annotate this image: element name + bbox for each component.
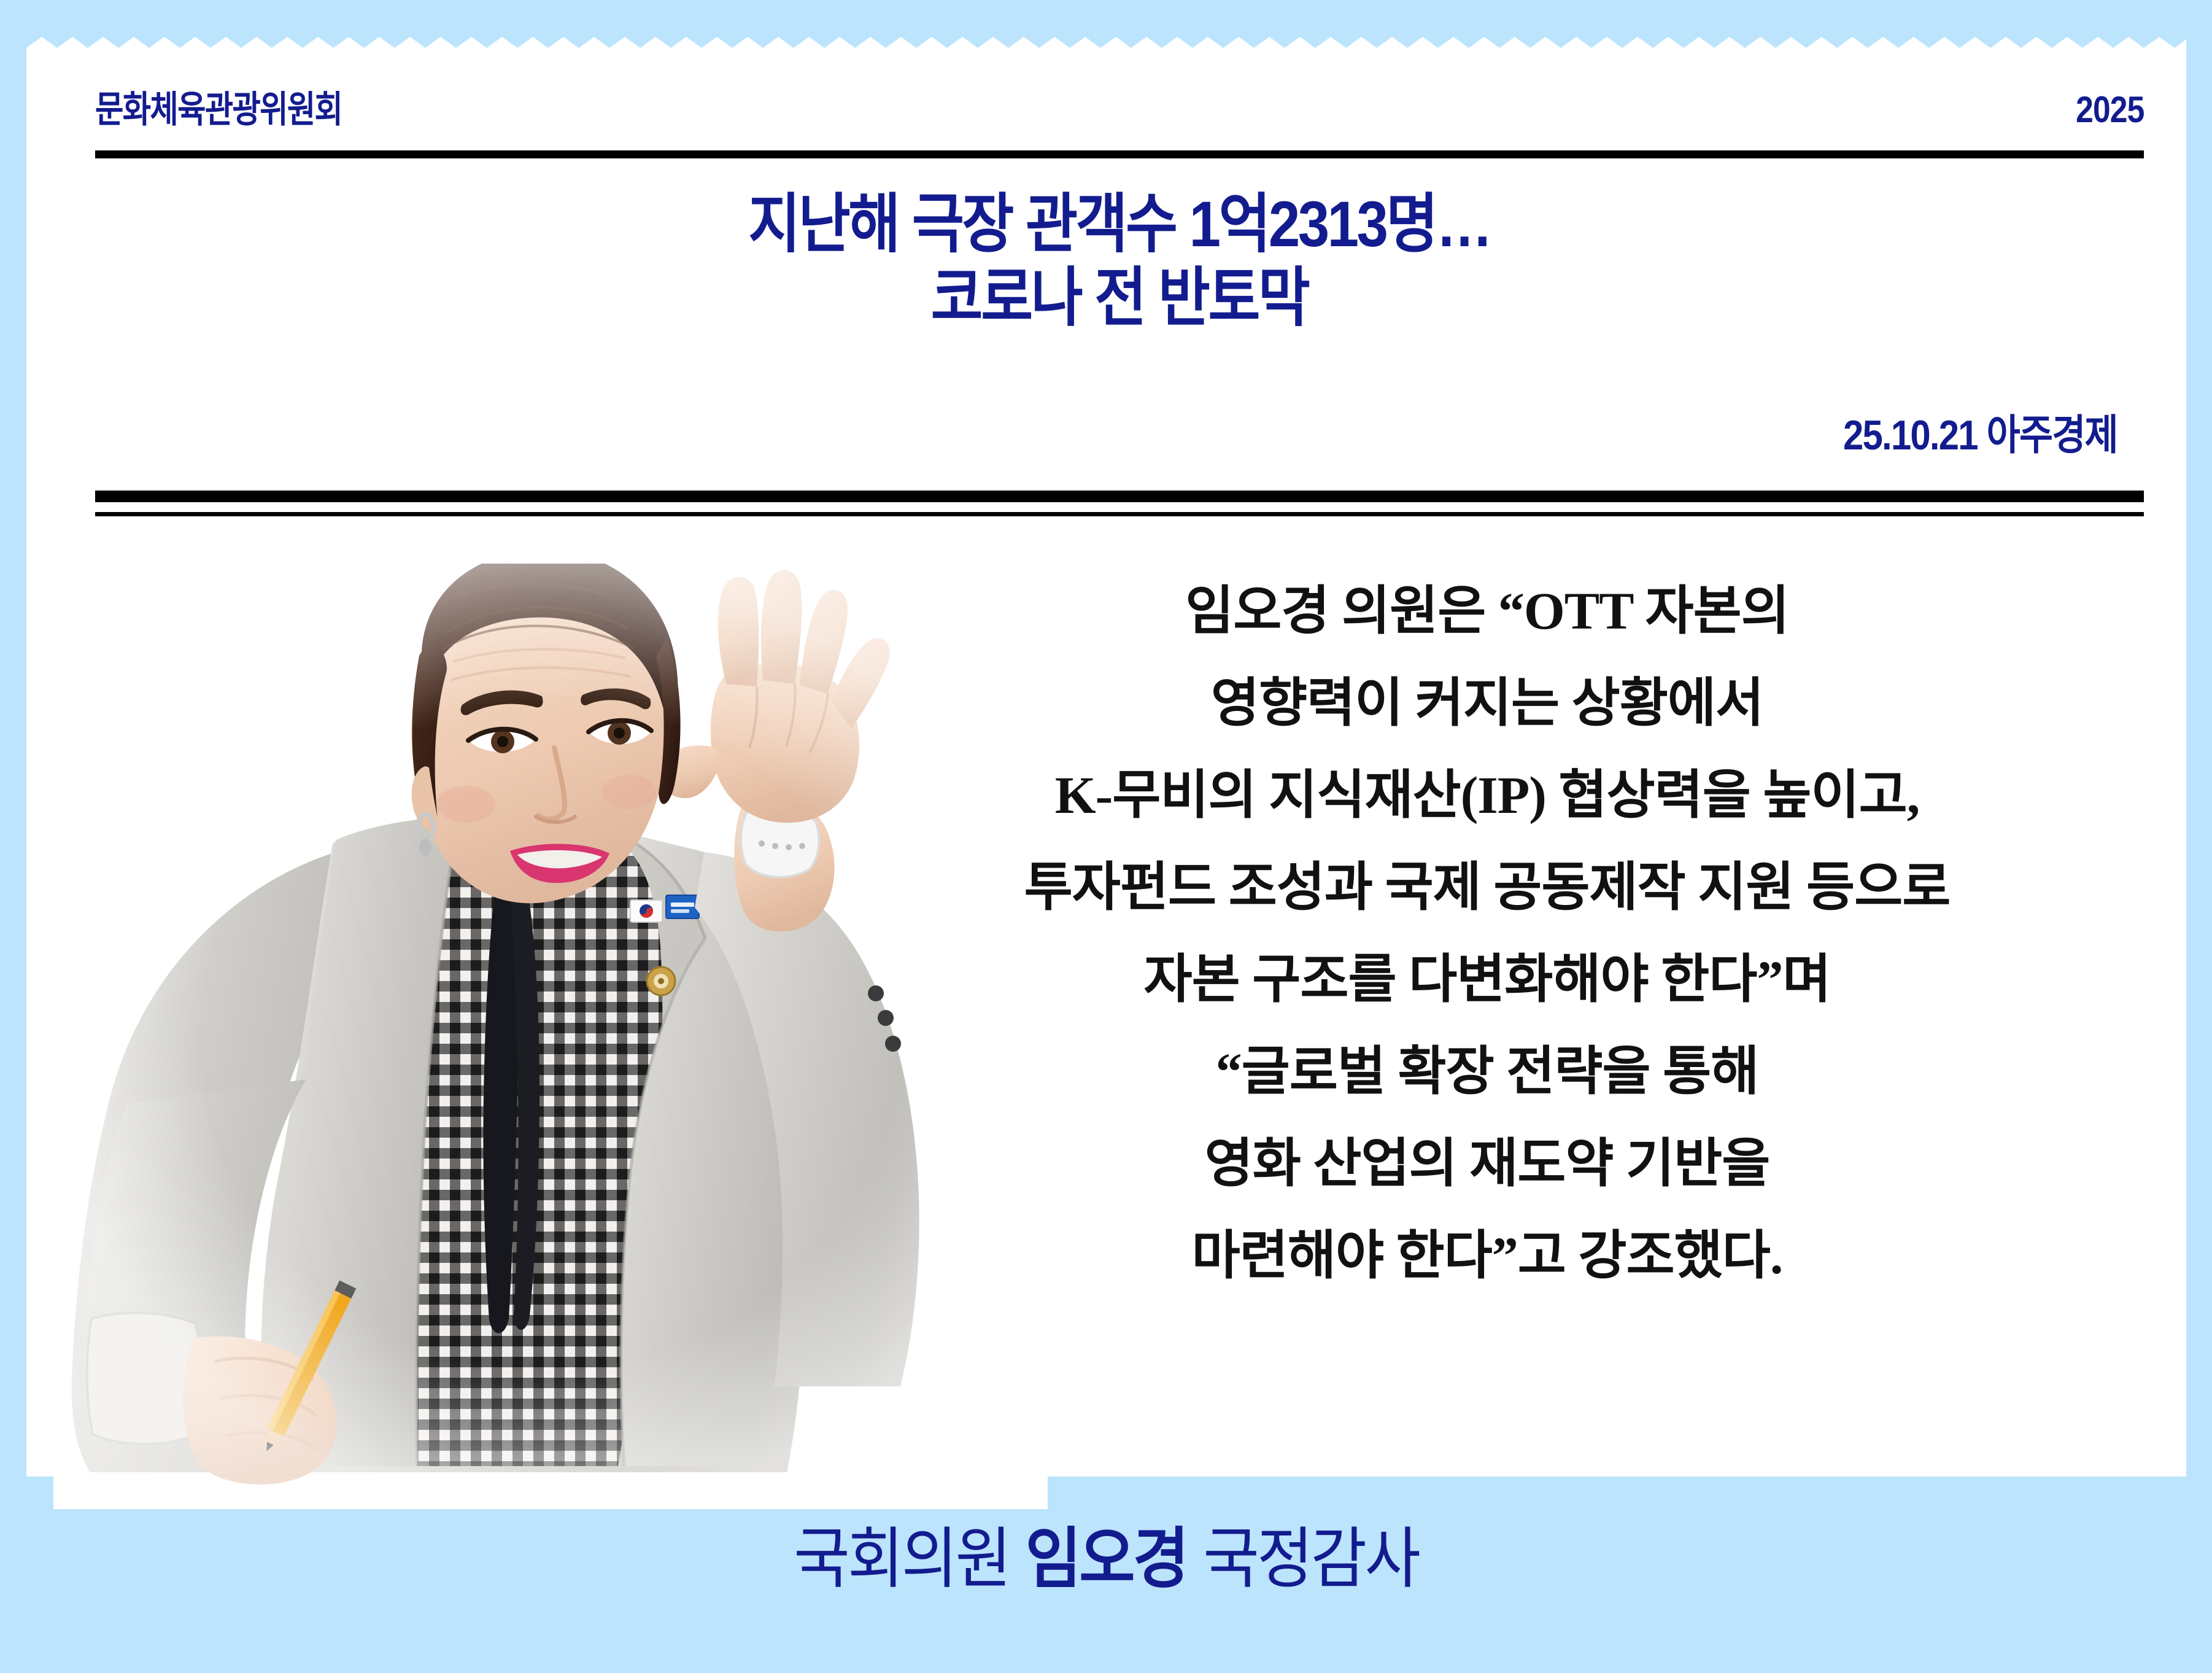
body-quote: 임오경 의원은 “OTT 자본의 영향력이 커지는 상황에서 K-무비의 지식재… [830,565,2144,1302]
torn-edge-decoration [26,36,2186,48]
headline-line-2: 코로나 전 반토막 [218,262,2021,335]
committee-name: 문화체육관광위원회 [95,90,342,130]
body-line: 영화 산업의 재도약 기반을 [830,1117,2144,1209]
headline-line-1: 지난해 극장 관객수 1억2313명… [218,188,2021,262]
footer-prefix: 국회의원 [794,1505,1009,1601]
header-rule [95,150,2144,158]
body-line: 영향력이 커지는 상황에서 [830,657,2144,749]
year-label: 2025 [2076,90,2144,130]
footer-member-name: 임오경 [1025,1505,1186,1601]
footer: 국회의원 임오경 국정감사 [0,1505,2212,1601]
footer-suffix: 국정감사 [1203,1505,1418,1601]
body-line: “글로벌 확장 전략을 통해 [830,1025,2144,1117]
divider-thick [95,491,2144,502]
source-attribution: 25.10.21 아주경제 [1843,411,2117,459]
paper-sheet: 문화체육관광위원회 2025 지난해 극장 관객수 1억2313명… 코로나 전… [26,36,2186,1477]
body-line: 투자펀드 조성과 국제 공동제작 지원 등으로 [830,841,2144,933]
body-line: 임오경 의원은 “OTT 자본의 [830,565,2144,657]
header-row: 문화체육관광위원회 2025 [95,90,2144,134]
card-news-poster: 문화체육관광위원회 2025 지난해 극장 관객수 1억2313명… 코로나 전… [0,0,2212,1673]
body-line: 마련해야 한다”고 강조했다. [830,1209,2144,1302]
headline: 지난해 극장 관객수 1억2313명… 코로나 전 반토막 [95,188,2144,335]
body-line: K-무비의 지식재산(IP) 협상력을 높이고, [830,749,2144,841]
body-line: 자본 구조를 다변화해야 한다”며 [830,933,2144,1025]
divider-thin [95,512,2144,516]
